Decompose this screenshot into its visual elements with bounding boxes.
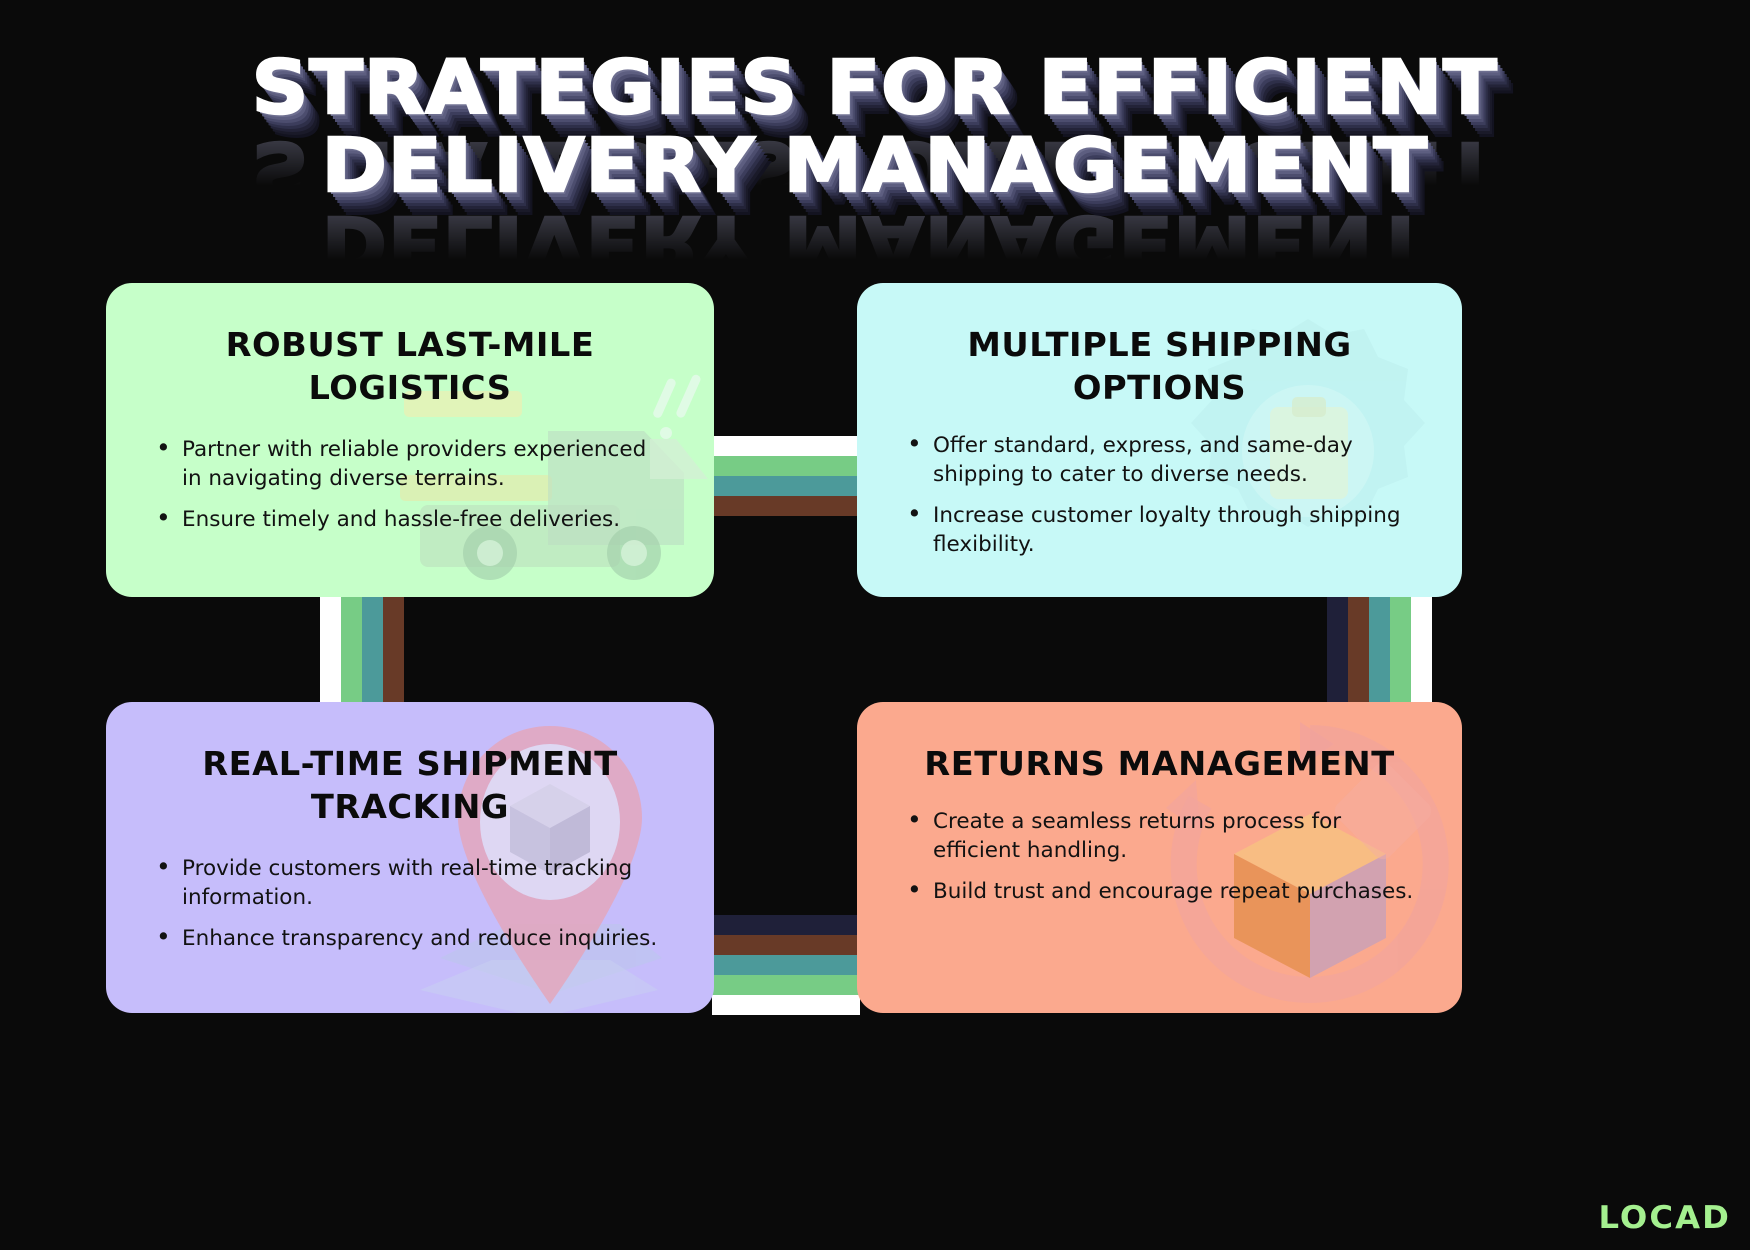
stripe-white <box>712 995 860 1015</box>
list-item: Enhance transparency and reduce inquirie… <box>152 924 668 953</box>
card-title-shipping: MULTIPLE SHIPPING OPTIONS <box>898 323 1421 409</box>
stripe-green <box>341 596 362 704</box>
card-title-line: RETURNS MANAGEMENT <box>898 742 1421 785</box>
stripe-teal <box>362 596 383 704</box>
card-multiple-shipping-options[interactable]: MULTIPLE SHIPPING OPTIONS Offer standard… <box>857 283 1462 597</box>
stripe-green <box>712 975 860 995</box>
card-title-last-mile: ROBUST LAST-MILE LOGISTICS <box>147 323 673 409</box>
card-title-tracking: REAL-TIME SHIPMENT TRACKING <box>147 742 673 828</box>
list-item: Provide customers with real-time trackin… <box>152 854 668 912</box>
stripe-white <box>320 596 341 704</box>
stripe-teal <box>1369 596 1390 704</box>
card-returns-management[interactable]: RETURNS MANAGEMENT Create a seamless ret… <box>857 702 1462 1013</box>
stripe-green <box>712 456 860 476</box>
title-line-1-wrapper: STRATEGIES FOR EFFICIENT STRATEGIES FOR … <box>0 48 1750 130</box>
stripe-teal <box>712 955 860 975</box>
stripe-brown <box>712 935 860 955</box>
card-real-time-shipment-tracking[interactable]: REAL-TIME SHIPMENT TRACKING Provide cust… <box>106 702 714 1013</box>
card-bullets-shipping: Offer standard, express, and same-day sh… <box>903 431 1416 559</box>
card-bullets-tracking: Provide customers with real-time trackin… <box>152 854 668 953</box>
connector-top-horizontal <box>712 436 860 516</box>
locad-logo[interactable]: LOCAD <box>1598 1200 1731 1236</box>
connector-bottom-horizontal <box>712 915 860 1011</box>
list-item: Create a seamless returns process for ef… <box>903 807 1416 865</box>
card-title-returns: RETURNS MANAGEMENT <box>898 742 1421 785</box>
stripe-brown <box>383 596 404 704</box>
card-title-line: TRACKING <box>147 785 673 828</box>
title-line-2: DELIVERY MANAGEMENT <box>322 126 1428 206</box>
list-item: Build trust and encourage repeat purchas… <box>903 877 1416 906</box>
title-line-2-wrapper: DELIVERY MANAGEMENT DELIVERY MANAGEMENT <box>0 126 1750 208</box>
list-item: Increase customer loyalty through shippi… <box>903 501 1416 559</box>
card-title-line: MULTIPLE SHIPPING OPTIONS <box>898 323 1421 409</box>
list-item: Ensure timely and hassle-free deliveries… <box>152 505 668 534</box>
connector-left-vertical <box>320 596 404 704</box>
title-line-1: STRATEGIES FOR EFFICIENT <box>252 48 1498 128</box>
connector-right-vertical <box>1327 596 1432 704</box>
stripe-green <box>1390 596 1411 704</box>
list-item: Partner with reliable providers experien… <box>152 435 668 493</box>
card-robust-last-mile-logistics[interactable]: ROBUST LAST-MILE LOGISTICS Partner with … <box>106 283 714 597</box>
stripe-brown <box>1348 596 1369 704</box>
card-bullets-last-mile: Partner with reliable providers experien… <box>152 435 668 534</box>
page-title: STRATEGIES FOR EFFICIENT STRATEGIES FOR … <box>0 48 1750 208</box>
stripe-brown <box>712 496 860 516</box>
title-line-2-reflection: DELIVERY MANAGEMENT <box>0 202 1750 282</box>
list-item: Offer standard, express, and same-day sh… <box>903 431 1416 489</box>
card-title-line: REAL-TIME SHIPMENT <box>147 742 673 785</box>
stripe-white <box>1411 596 1432 704</box>
stripe-teal <box>712 476 860 496</box>
stripe-navy <box>1327 596 1348 704</box>
stripe-navy <box>712 915 860 935</box>
stripe-white <box>712 436 860 456</box>
card-title-line: LOGISTICS <box>147 366 673 409</box>
card-title-line: ROBUST LAST-MILE <box>147 323 673 366</box>
card-bullets-returns: Create a seamless returns process for ef… <box>903 807 1416 906</box>
